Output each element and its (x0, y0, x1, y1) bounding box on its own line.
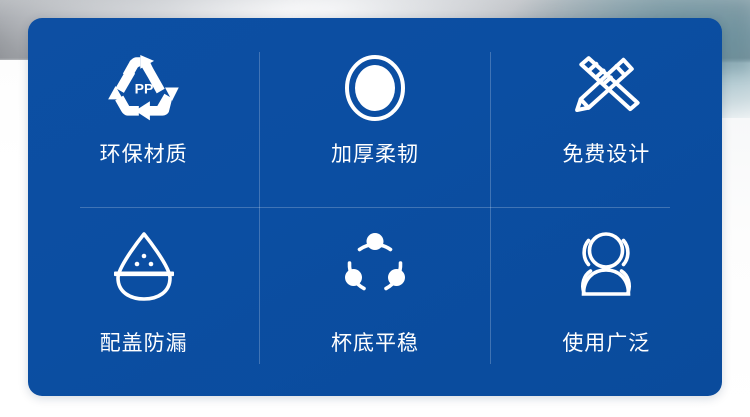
people-group-icon (570, 223, 642, 309)
feature-panel-screenshot: PP 环保材质 加厚柔韧 (0, 0, 750, 417)
feature-label: 加厚柔韧 (331, 144, 419, 165)
feature-label: 免费设计 (562, 144, 650, 165)
feature-item-leakproof-lid[interactable]: 配盖防漏 (28, 207, 259, 396)
feature-label: 杯底平稳 (331, 333, 419, 354)
recycle-pp-icon: PP (107, 46, 181, 132)
svg-text:PP: PP (134, 80, 153, 96)
feature-item-stable-base[interactable]: 杯底平稳 (259, 207, 490, 396)
feature-item-eco-material[interactable]: PP 环保材质 (28, 18, 259, 207)
feature-label: 环保材质 (100, 144, 188, 165)
features-panel: PP 环保材质 加厚柔韧 (28, 18, 722, 396)
features-grid: PP 环保材质 加厚柔韧 (28, 18, 722, 396)
three-dot-circle-icon (340, 223, 410, 309)
feature-item-wide-use[interactable]: 使用广泛 (491, 207, 722, 396)
thick-ring-circle-icon (343, 46, 407, 132)
feature-label: 使用广泛 (562, 333, 650, 354)
droplet-lid-icon (110, 223, 178, 309)
feature-item-free-design[interactable]: 免费设计 (491, 18, 722, 207)
feature-item-thick-flexible[interactable]: 加厚柔韧 (259, 18, 490, 207)
pencil-ruler-icon (571, 46, 641, 132)
feature-label: 配盖防漏 (100, 333, 188, 354)
